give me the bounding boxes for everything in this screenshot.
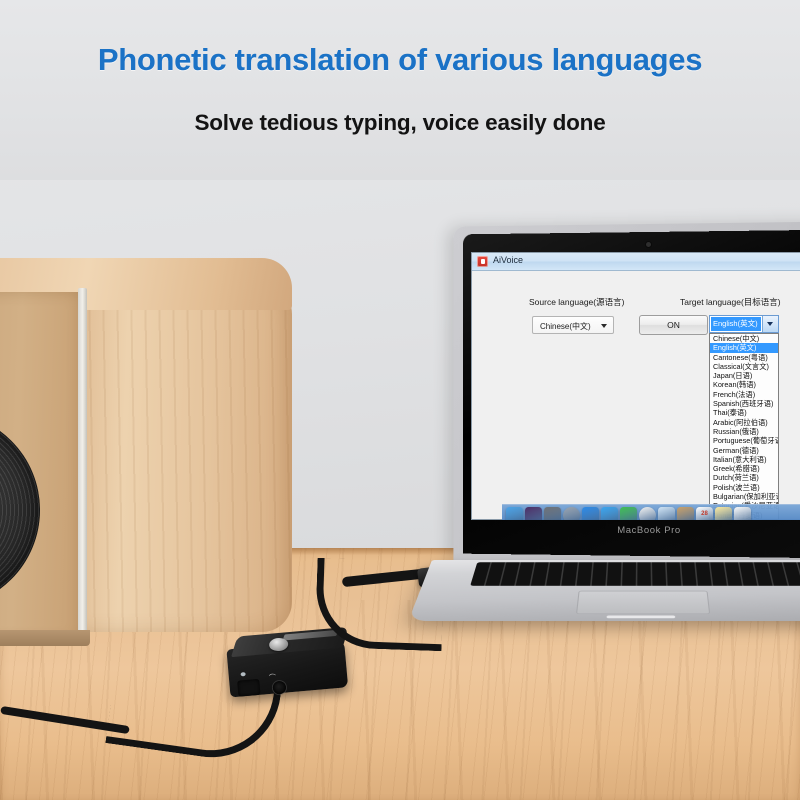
target-language-dropdown-list[interactable]: Chinese(中文)English(英文)Cantonese(粤语)Class…: [709, 333, 779, 520]
headline-banner: Phonetic translation of various language…: [0, 0, 800, 180]
dropdown-option[interactable]: Bulgarian(保加利亚语): [710, 492, 778, 501]
source-language-select[interactable]: Chinese(中文): [532, 316, 614, 334]
calendar-icon[interactable]: 28: [696, 507, 713, 520]
webcam-icon: [646, 242, 651, 247]
target-language-value: English(英文): [711, 317, 761, 331]
preview-icon[interactable]: [658, 507, 675, 520]
dropdown-option[interactable]: Cantonese(粤语): [710, 353, 778, 362]
dongle-led-indicator: [240, 672, 245, 676]
app-title-text: AiVoice: [493, 255, 523, 265]
laptop-lid-notch: [607, 616, 676, 619]
laptop-display: AiVoice ✕ Source language(源语言) Target la…: [471, 252, 800, 520]
target-language-select[interactable]: English(英文): [709, 315, 779, 333]
aivoice-app-icon: [477, 256, 488, 267]
chevron-down-icon: [601, 324, 607, 328]
speaker-front-panel: [0, 292, 86, 640]
macbook-pro-laptop: AiVoice ✕ Source language(源语言) Target la…: [440, 224, 800, 744]
speaker-base: [0, 630, 90, 646]
reminders-icon[interactable]: [734, 507, 751, 520]
speaker-driver-cone: [0, 412, 40, 608]
source-language-value: Chinese(中文): [540, 321, 591, 332]
chevron-down-icon[interactable]: [762, 316, 778, 332]
headline-secondary: Solve tedious typing, voice easily done: [0, 110, 800, 136]
dropdown-option[interactable]: Arabic(阿拉伯语): [710, 418, 778, 427]
dropdown-option[interactable]: Korean(韩语): [710, 380, 778, 389]
finder-icon[interactable]: [506, 507, 523, 520]
headline-primary: Phonetic translation of various language…: [0, 42, 800, 78]
app-store-icon[interactable]: [582, 507, 599, 520]
app-title-bar[interactable]: AiVoice ✕: [472, 253, 800, 271]
laptop-base: [408, 560, 800, 621]
dropdown-option[interactable]: Dutch(荷兰语): [710, 473, 778, 482]
usb-sound-card-adapter: ⌒: [225, 627, 356, 704]
notes-icon[interactable]: [715, 507, 732, 520]
dropdown-option[interactable]: Japan(日语): [710, 371, 778, 380]
speaker-metal-rim: [78, 288, 87, 640]
launchpad-icon[interactable]: [563, 507, 580, 520]
dropdown-option[interactable]: English(英文): [710, 343, 778, 352]
siri-icon[interactable]: [525, 507, 542, 520]
dropdown-option[interactable]: Portuguese(葡萄牙语): [710, 436, 778, 445]
settings-icon[interactable]: [544, 507, 561, 520]
dropdown-option[interactable]: Italian(意大利语): [710, 455, 778, 464]
dropdown-option[interactable]: Polish(波兰语): [710, 483, 778, 492]
calendar-date-badge: 28: [696, 511, 713, 517]
safari-icon[interactable]: [601, 507, 618, 520]
on-button[interactable]: ON: [639, 315, 708, 335]
headphone-icon: ⌒: [269, 672, 277, 683]
dropdown-option[interactable]: Greek(希腊语): [710, 464, 778, 473]
dropdown-option[interactable]: Thai(泰语): [710, 408, 778, 417]
contacts-icon[interactable]: [677, 507, 694, 520]
product-banner-image: ⌒ AiVoice ✕ Source language(源语言) Target …: [0, 0, 800, 800]
photos-icon[interactable]: [639, 507, 656, 520]
speaker-mesh-grille: [0, 412, 40, 608]
dropdown-option[interactable]: Classical(文言文): [710, 362, 778, 371]
dropdown-option[interactable]: German(德语): [710, 446, 778, 455]
source-language-label: Source language(源语言): [529, 296, 624, 308]
laptop-trackpad[interactable]: [576, 591, 710, 614]
wooden-bluetooth-speaker: [0, 258, 292, 658]
dropdown-option[interactable]: Russian(俄语): [710, 427, 778, 436]
laptop-brand-label: MacBook Pro: [460, 520, 800, 542]
dropdown-option[interactable]: Spanish(西班牙语): [710, 399, 778, 408]
facetime-icon[interactable]: [620, 507, 637, 520]
dongle-headphone-jack: [272, 681, 286, 695]
target-language-label: Target language(目标语言): [680, 296, 781, 308]
dropdown-option[interactable]: French(法语): [710, 390, 778, 399]
dongle-mic-port: [237, 679, 260, 697]
laptop-keyboard[interactable]: [470, 562, 800, 586]
speaker-side-panel: [80, 280, 292, 632]
dropdown-option[interactable]: Chinese(中文): [710, 334, 778, 343]
aivoice-app-window: AiVoice ✕ Source language(源语言) Target la…: [471, 252, 800, 520]
macos-dock[interactable]: 28: [502, 504, 800, 520]
